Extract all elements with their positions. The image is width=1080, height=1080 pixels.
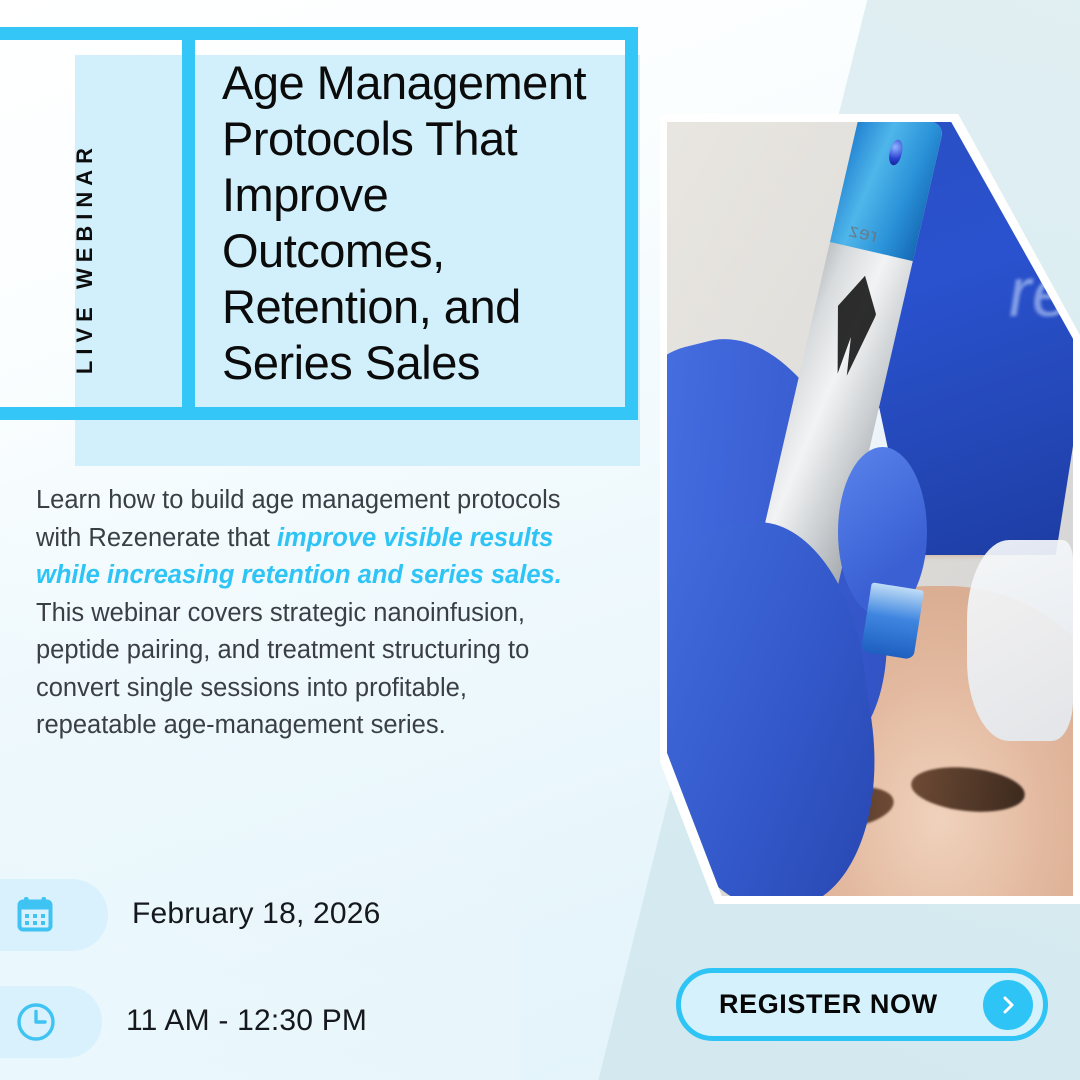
date-pill bbox=[0, 879, 108, 951]
poster-canvas: rez rez LIVE WEBINAR Age bbox=[0, 0, 1080, 1080]
clock-icon bbox=[14, 1000, 58, 1044]
photo-pen-tip bbox=[861, 583, 924, 660]
page-title: Age Management Protocols That Improve Ou… bbox=[222, 55, 622, 391]
live-webinar-badge: LIVE WEBINAR bbox=[55, 123, 115, 393]
register-now-label: REGISTER NOW bbox=[719, 989, 938, 1020]
live-webinar-label: LIVE WEBINAR bbox=[72, 142, 98, 374]
treatment-photo-image: rez rez bbox=[667, 122, 1073, 896]
photo-hair-cap bbox=[967, 540, 1073, 741]
description-rest: This webinar covers strategic nanoinfusi… bbox=[36, 599, 529, 740]
calendar-icon bbox=[14, 894, 56, 936]
webinar-date: February 18, 2026 bbox=[132, 897, 381, 931]
register-now-button[interactable]: REGISTER NOW bbox=[676, 968, 1048, 1041]
header-vertical-divider bbox=[182, 27, 195, 420]
time-pill bbox=[0, 986, 102, 1058]
header-block: LIVE WEBINAR Age Management Protocols Th… bbox=[0, 27, 640, 421]
description-paragraph: Learn how to build age management protoc… bbox=[36, 482, 566, 745]
webinar-time: 11 AM - 12:30 PM bbox=[126, 1004, 367, 1038]
chevron-right-icon bbox=[983, 980, 1033, 1030]
photo-pen-heart-logo bbox=[823, 271, 884, 379]
treatment-photo: rez rez bbox=[660, 114, 1080, 904]
